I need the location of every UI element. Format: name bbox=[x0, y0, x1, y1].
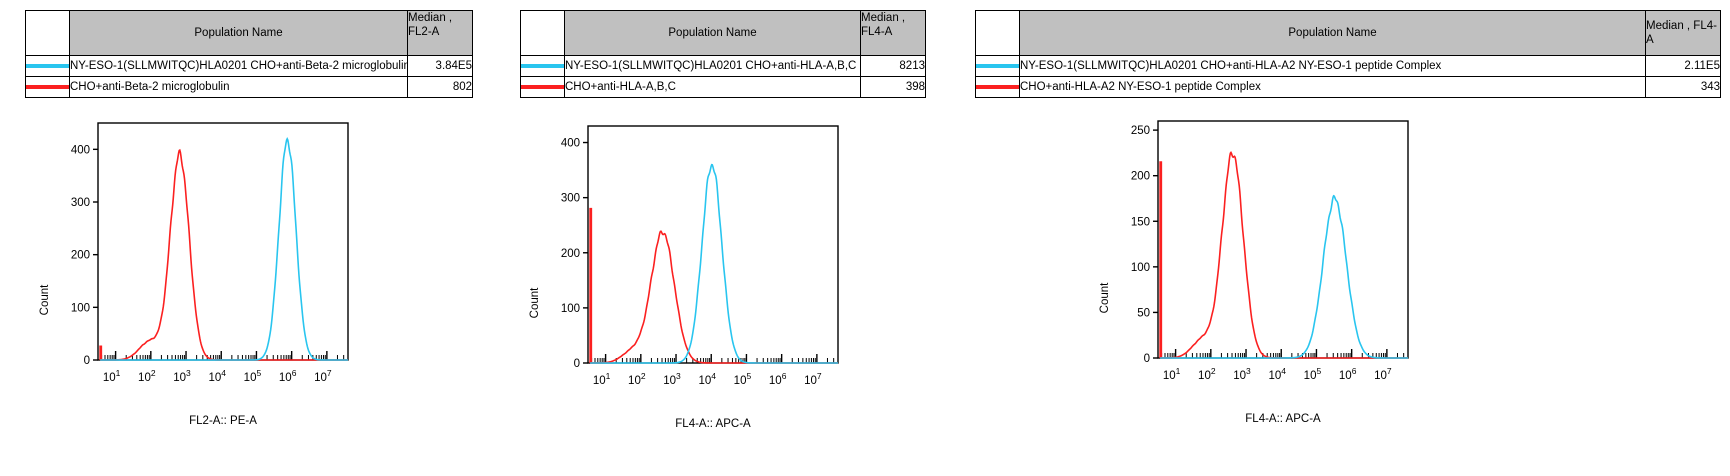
plot-frame bbox=[1158, 121, 1408, 358]
histogram-plot-3: Count 050100150200250 101102103104105106… bbox=[1090, 113, 1420, 403]
y-axis-label-group: Count bbox=[39, 284, 51, 315]
y-tick-labels: 050100150200250 bbox=[1131, 125, 1158, 365]
table-row: CHO+anti-Beta-2 microglobulin 802 bbox=[26, 77, 473, 98]
header-median: Median , FL4-A bbox=[1646, 11, 1721, 56]
x-axis-title: FL2-A:: PE-A bbox=[98, 415, 348, 427]
legend-color-swatch bbox=[521, 77, 565, 98]
y-axis-title: Count bbox=[1099, 282, 1111, 313]
table-header-row: Population Name Median , FL4-A bbox=[976, 11, 1721, 56]
header-swatch-cell bbox=[26, 11, 70, 56]
series-line-red bbox=[590, 209, 838, 363]
y-tick-label: 200 bbox=[561, 248, 580, 260]
x-minor-ticks bbox=[102, 351, 344, 360]
x-tick-label: 104 bbox=[698, 371, 716, 387]
median-value-cell: 802 bbox=[408, 77, 473, 98]
y-tick-label: 100 bbox=[71, 302, 90, 314]
series-line-cyan bbox=[100, 139, 348, 360]
plot-svg-3: Count 050100150200250 101102103104105106… bbox=[1090, 113, 1420, 403]
series-line-cyan bbox=[590, 165, 838, 363]
legend-color-swatch bbox=[26, 77, 70, 98]
series-line-red bbox=[1160, 152, 1408, 358]
series-line-cyan bbox=[1160, 196, 1408, 358]
population-name-cell: NY-ESO-1(SLLMWITQC)HLA0201 CHO+anti-HLA-… bbox=[565, 56, 861, 77]
population-name-cell: CHO+anti-Beta-2 microglobulin bbox=[70, 77, 408, 98]
table-row: CHO+anti-HLA-A2 NY-ESO-1 peptide Complex… bbox=[976, 77, 1721, 98]
x-tick-label: 103 bbox=[173, 368, 191, 384]
legend-table-1: Population Name Median , FL2-A NY-ESO-1(… bbox=[25, 10, 473, 98]
figure-root: Population Name Median , FL2-A NY-ESO-1(… bbox=[0, 0, 1730, 476]
histogram-plot-2: Count 0100200300400 10110210310410510610… bbox=[520, 118, 850, 408]
histogram-plot-1: Count 0100200300400 10110210310410510610… bbox=[30, 115, 360, 405]
x-tick-label: 107 bbox=[1374, 366, 1392, 382]
median-value-cell: 2.11E5 bbox=[1646, 56, 1721, 77]
legend-table-2: Population Name Median , FL4-A NY-ESO-1(… bbox=[520, 10, 926, 98]
header-swatch-cell bbox=[521, 11, 565, 56]
header-median: Median , FL2-A bbox=[408, 11, 473, 56]
x-tick-labels: 101102103104105106107 bbox=[593, 371, 822, 387]
x-tick-label: 103 bbox=[1233, 366, 1251, 382]
legend-color-swatch bbox=[26, 56, 70, 77]
y-tick-label: 200 bbox=[71, 250, 90, 262]
x-tick-label: 106 bbox=[279, 368, 297, 384]
x-tick-label: 106 bbox=[1339, 366, 1357, 382]
x-axis-title: FL4-A:: APC-A bbox=[1158, 413, 1408, 425]
y-tick-label: 400 bbox=[71, 144, 90, 156]
table-header-row: Population Name Median , FL2-A bbox=[26, 11, 473, 56]
legend-color-swatch bbox=[976, 77, 1020, 98]
x-tick-labels: 101102103104105106107 bbox=[1163, 366, 1392, 382]
population-name-cell: CHO+anti-HLA-A,B,C bbox=[565, 77, 861, 98]
y-tick-label: 250 bbox=[1131, 125, 1150, 137]
y-tick-label: 0 bbox=[84, 355, 90, 367]
legend-table-3: Population Name Median , FL4-A NY-ESO-1(… bbox=[975, 10, 1721, 98]
plot-frame bbox=[588, 126, 838, 363]
y-tick-label: 400 bbox=[561, 138, 580, 150]
x-tick-label: 101 bbox=[103, 368, 121, 384]
x-tick-labels: 101102103104105106107 bbox=[103, 368, 332, 384]
table-header-row: Population Name Median , FL4-A bbox=[521, 11, 926, 56]
header-population-name: Population Name bbox=[1020, 11, 1646, 56]
x-tick-label: 107 bbox=[804, 371, 822, 387]
x-tick-label: 102 bbox=[138, 368, 156, 384]
table-row: NY-ESO-1(SLLMWITQC)HLA0201 CHO+anti-HLA-… bbox=[521, 56, 926, 77]
median-value-cell: 398 bbox=[861, 77, 926, 98]
median-value-cell: 8213 bbox=[861, 56, 926, 77]
x-tick-label: 102 bbox=[1198, 366, 1216, 382]
header-population-name: Population Name bbox=[70, 11, 408, 56]
y-axis-title: Count bbox=[39, 284, 51, 315]
population-name-cell: NY-ESO-1(SLLMWITQC)HLA0201 CHO+anti-HLA-… bbox=[1020, 56, 1646, 77]
x-tick-label: 106 bbox=[769, 371, 787, 387]
x-tick-label: 101 bbox=[1163, 366, 1181, 382]
y-tick-label: 100 bbox=[561, 303, 580, 315]
y-tick-label: 50 bbox=[1137, 307, 1150, 319]
header-median: Median , FL4-A bbox=[861, 11, 926, 56]
x-tick-label: 101 bbox=[593, 371, 611, 387]
table-row: NY-ESO-1(SLLMWITQC)HLA0201 CHO+anti-Beta… bbox=[26, 56, 473, 77]
x-tick-label: 104 bbox=[1268, 366, 1286, 382]
x-axis-title: FL4-A:: APC-A bbox=[588, 418, 838, 430]
x-minor-ticks bbox=[592, 354, 834, 363]
table-row: CHO+anti-HLA-A,B,C 398 bbox=[521, 77, 926, 98]
series-line-red bbox=[100, 150, 348, 360]
plot-svg-1: Count 0100200300400 10110210310410510610… bbox=[30, 115, 360, 405]
population-name-cell: CHO+anti-HLA-A2 NY-ESO-1 peptide Complex bbox=[1020, 77, 1646, 98]
x-tick-label: 105 bbox=[244, 368, 262, 384]
table-row: NY-ESO-1(SLLMWITQC)HLA0201 CHO+anti-HLA-… bbox=[976, 56, 1721, 77]
x-tick-label: 104 bbox=[208, 368, 226, 384]
y-tick-label: 0 bbox=[574, 358, 580, 370]
legend-color-swatch bbox=[521, 56, 565, 77]
x-minor-ticks bbox=[1162, 349, 1404, 358]
y-tick-labels: 0100200300400 bbox=[71, 144, 98, 367]
x-tick-label: 105 bbox=[1304, 366, 1322, 382]
plot-frame bbox=[98, 123, 348, 360]
median-value-cell: 3.84E5 bbox=[408, 56, 473, 77]
header-population-name: Population Name bbox=[565, 11, 861, 56]
y-tick-labels: 0100200300400 bbox=[561, 138, 588, 370]
population-name-cell: NY-ESO-1(SLLMWITQC)HLA0201 CHO+anti-Beta… bbox=[70, 56, 408, 77]
y-axis-title: Count bbox=[529, 287, 541, 318]
y-tick-label: 200 bbox=[1131, 171, 1150, 183]
y-tick-label: 300 bbox=[71, 197, 90, 209]
y-tick-label: 300 bbox=[561, 193, 580, 205]
x-tick-label: 107 bbox=[314, 368, 332, 384]
x-tick-label: 102 bbox=[628, 371, 646, 387]
y-tick-label: 150 bbox=[1131, 216, 1150, 228]
header-swatch-cell bbox=[976, 11, 1020, 56]
x-tick-label: 105 bbox=[734, 371, 752, 387]
y-tick-label: 100 bbox=[1131, 262, 1150, 274]
x-tick-label: 103 bbox=[663, 371, 681, 387]
plot-svg-2: Count 0100200300400 10110210310410510610… bbox=[520, 118, 850, 408]
y-tick-label: 0 bbox=[1144, 353, 1150, 365]
median-value-cell: 343 bbox=[1646, 77, 1721, 98]
legend-color-swatch bbox=[976, 56, 1020, 77]
